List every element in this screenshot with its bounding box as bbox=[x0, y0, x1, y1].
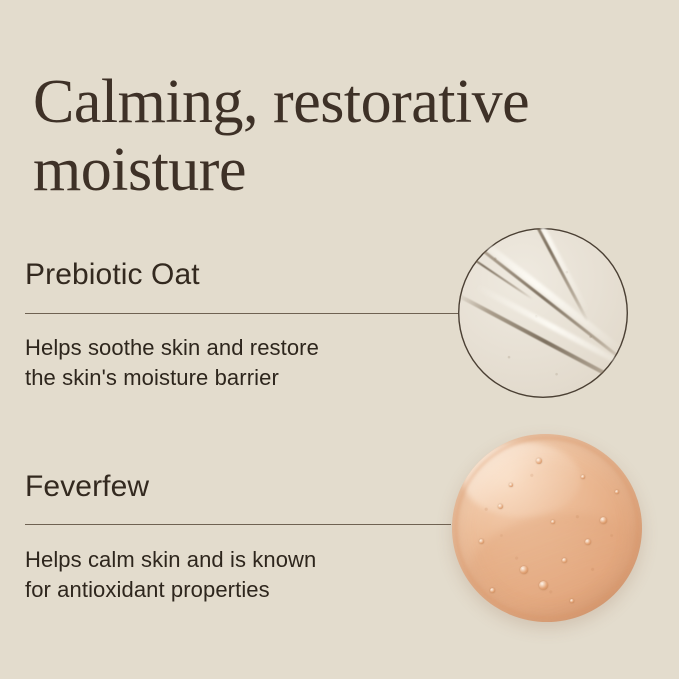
gel-rim bbox=[455, 437, 639, 619]
ingredient-block-prebiotic-oat: Prebiotic Oat bbox=[25, 258, 455, 292]
oat-powder-texture-circle-icon bbox=[458, 228, 628, 398]
gel-bubble bbox=[600, 517, 607, 524]
ingredient-block-feverfew: Feverfew bbox=[25, 470, 455, 504]
amber-gel-droplet-circle-icon bbox=[452, 434, 642, 622]
gel-bubble bbox=[509, 483, 513, 487]
gel-bubble bbox=[539, 581, 548, 590]
ingredient-title-prebiotic-oat: Prebiotic Oat bbox=[25, 258, 455, 292]
gel-bubble bbox=[498, 504, 503, 509]
divider-prebiotic-oat bbox=[25, 313, 460, 314]
gel-bubble bbox=[520, 566, 528, 574]
ingredient-description-prebiotic-oat: Helps soothe skin and restore the skin's… bbox=[25, 333, 445, 393]
page-title: Calming, restorative moisture bbox=[33, 68, 643, 204]
ingredient-description-feverfew: Helps calm skin and is known for antioxi… bbox=[25, 545, 445, 605]
gel-bubble bbox=[479, 539, 484, 544]
ingredient-benefits-panel: Calming, restorative moisture Prebiotic … bbox=[0, 0, 679, 679]
ingredient-title-feverfew: Feverfew bbox=[25, 470, 455, 504]
divider-feverfew bbox=[25, 524, 451, 525]
